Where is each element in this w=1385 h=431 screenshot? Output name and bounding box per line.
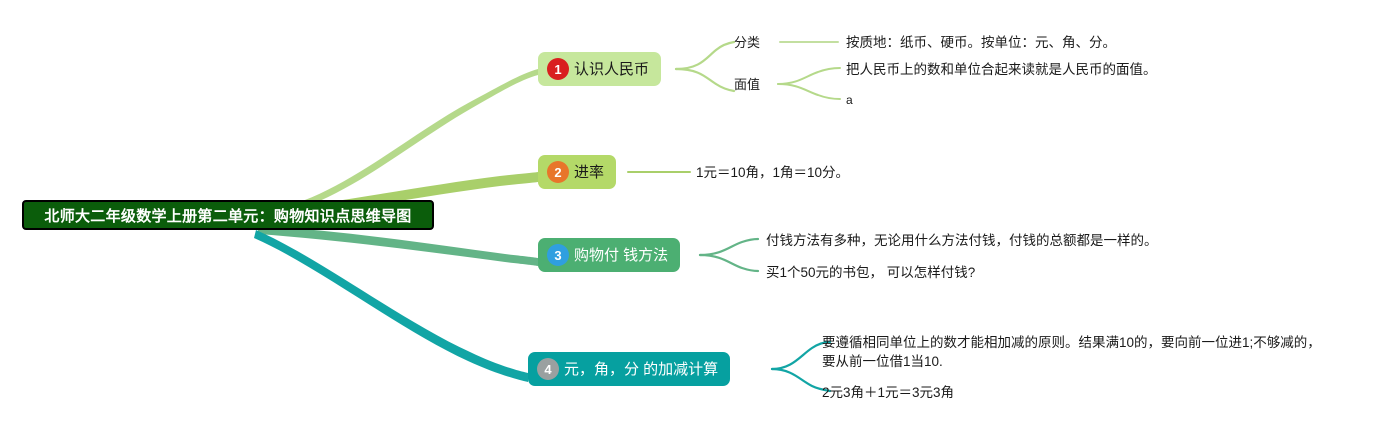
leaf-mianzhi-detail: 把人民币上的数和单位合起来读就是人民币的面值。 [846, 60, 1157, 79]
edge-branch3-fork-bottom [700, 255, 758, 271]
leaf-gouwu-detail-1: 付钱方法有多种，无论用什么方法付钱，付钱的总额都是一样的。 [766, 231, 1158, 250]
mindmap-canvas: 北师大二年级数学上册第二单元：购物知识点思维导图 1 认识人民币 分类 面值 按… [0, 0, 1385, 431]
root-node[interactable]: 北师大二年级数学上册第二单元：购物知识点思维导图 [22, 200, 434, 230]
edge-branch3-fork-top [700, 239, 758, 255]
leaf-gouwu-detail-2: 买1个50元的书包， 可以怎样付钱? [766, 263, 975, 282]
root-node-label: 北师大二年级数学上册第二单元：购物知识点思维导图 [44, 205, 411, 226]
branch-3-label: 购物付 钱方法 [574, 248, 668, 263]
branch-1-label: 认识人民币 [574, 62, 649, 77]
subnode-fenlei[interactable]: 分类 [734, 36, 760, 49]
leaf-jinlv-detail: 1元＝10角，1角＝10分。 [696, 163, 849, 182]
branch-node-3[interactable]: 3 购物付 钱方法 [538, 238, 680, 272]
branch-2-label: 进率 [574, 165, 604, 180]
edge-branch1-fork-bottom [676, 69, 734, 91]
edge-root-to-branch-3 [258, 226, 538, 266]
edge-mianzhi-fork-bottom [778, 84, 840, 99]
branch-1-number-badge: 1 [547, 58, 569, 80]
branch-4-label: 元，角，分 的加减计算 [564, 362, 718, 377]
branch-node-2[interactable]: 2 进率 [538, 155, 616, 189]
branch-3-number-badge: 3 [547, 244, 569, 266]
edge-root-to-branch-1 [256, 69, 538, 218]
leaf-jiajian-detail-2: 2元3角＋1元＝3元3角 [822, 383, 954, 402]
leaf-fenlei-detail: 按质地：纸币、硬币。按单位：元、角、分。 [846, 33, 1116, 52]
edge-branch1-fork-top [676, 42, 734, 69]
leaf-mianzhi-extra: a [846, 91, 853, 110]
edge-mianzhi-fork-top [778, 68, 840, 84]
branch-node-4[interactable]: 4 元，角，分 的加减计算 [528, 352, 730, 386]
branch-2-number-badge: 2 [547, 161, 569, 183]
subnode-mianzhi[interactable]: 面值 [734, 78, 760, 91]
branch-node-1[interactable]: 1 认识人民币 [538, 52, 661, 86]
leaf-jiajian-detail-1: 要遵循相同单位上的数才能相加减的原则。结果满10的，要向前一位进1;不够减的，要… [822, 333, 1327, 371]
branch-4-number-badge: 4 [537, 358, 559, 380]
edge-root-to-branch-4 [254, 230, 528, 382]
